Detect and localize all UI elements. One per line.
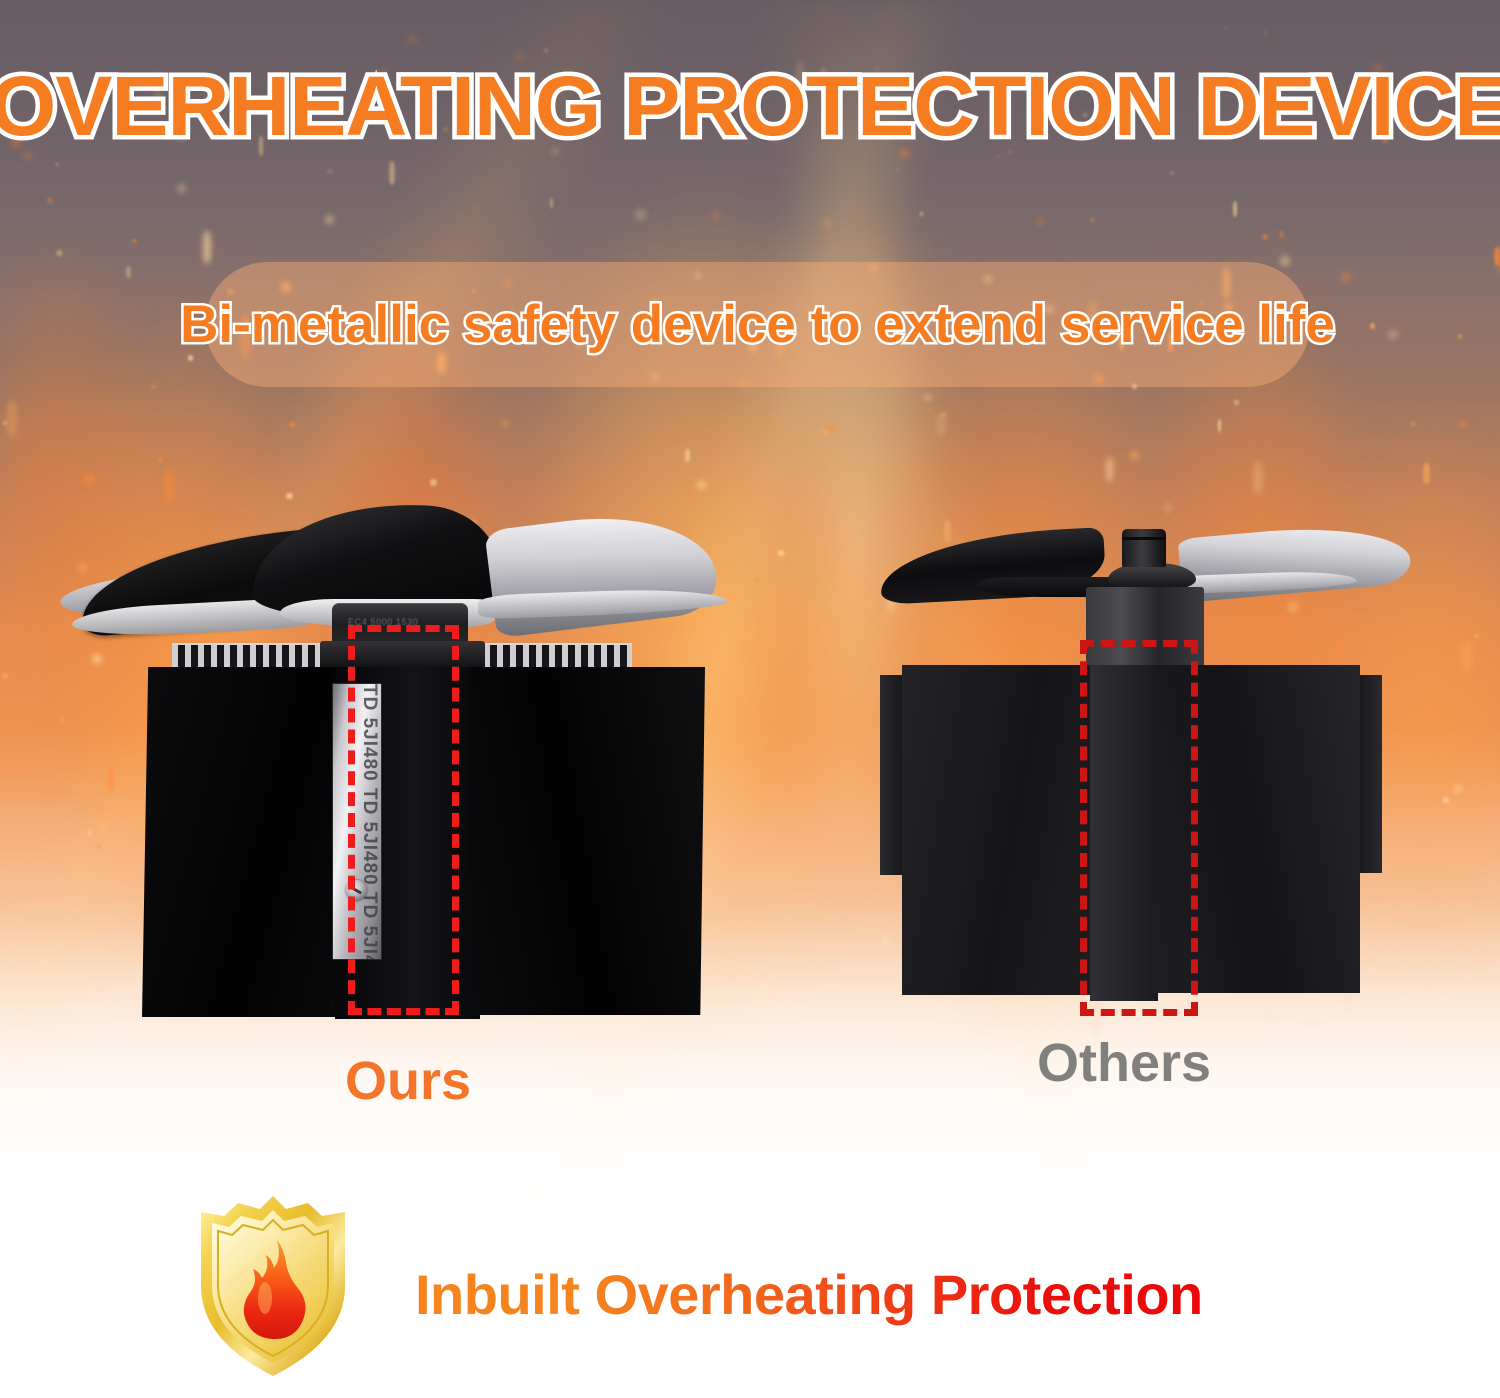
fan-body-right-panel — [470, 667, 705, 1015]
footer-tagline: Inbuilt Overheating Protection — [415, 1262, 1203, 1327]
page-title: OVERHEATING PROTECTION DEVICE — [0, 58, 1500, 155]
fan-others-illustration — [880, 515, 1410, 1015]
highlight-rect-ours — [348, 625, 459, 1015]
other-fan-top-cap — [1122, 529, 1166, 567]
other-fan-body-left — [902, 665, 1097, 995]
shield-flame-icon — [182, 1190, 364, 1382]
product-feature-banner: OVERHEATING PROTECTION DEVICE Bi-metalli… — [0, 0, 1500, 1398]
label-ours: Ours — [345, 1050, 471, 1112]
other-fan-tab-left — [880, 675, 904, 875]
fan-body-left-panel — [142, 667, 347, 1017]
label-others: Others — [1037, 1032, 1211, 1094]
highlight-rect-others — [1080, 640, 1198, 1016]
fan-ours-illustration: EC4 5000 1530 TD 5JI480 TD 5JI480 TD 5JI… — [80, 495, 720, 1015]
subtitle-text: Bi-metallic safety device to extend serv… — [180, 294, 1335, 355]
fan-blade-right — [484, 504, 720, 639]
subtitle-banner: Bi-metallic safety device to extend serv… — [205, 262, 1310, 387]
